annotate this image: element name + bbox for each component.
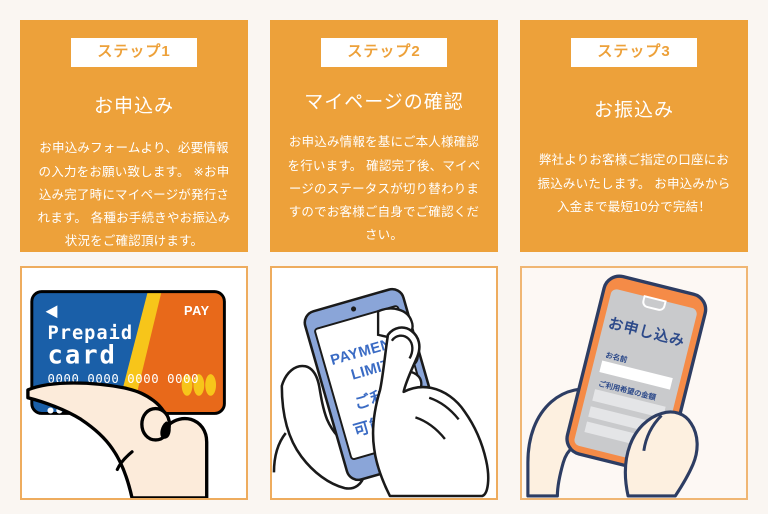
step-badge-1: ステップ1 (71, 38, 196, 67)
illustration-panel-form: お申し込み お名前 ご利用希望の金額 (520, 266, 748, 500)
step-badge-3: ステップ3 (571, 38, 696, 67)
application-form-illustration: お申し込み お名前 ご利用希望の金額 (522, 268, 746, 498)
steps-infographic: ステップ1 お申込み お申込みフォームより、必要情報の入力をお願い致します。 ※… (0, 0, 768, 514)
step-badge-2: ステップ2 (321, 38, 446, 67)
payment-limit-illustration: PAYMENT LIMIT ご利用 可能な枠 (272, 268, 496, 498)
step-title-2: マイページの確認 (304, 91, 464, 116)
card-brand-line2: card (48, 340, 117, 370)
step-body-1: お申込みフォームより、必要情報の入力をお願い致します。 ※お申込み完了時にマイペ… (30, 137, 238, 253)
card-pay-label: PAY (184, 303, 210, 318)
illustration-panel-phone: PAYMENT LIMIT ご利用 可能な枠 (270, 266, 498, 500)
steps-row: ステップ1 お申込み お申込みフォームより、必要情報の入力をお願い致します。 ※… (20, 20, 748, 252)
step-title-3: お振込み (594, 99, 674, 124)
prepaid-card-illustration: PAY Prepaid card 0000 0000 0000 0000 (22, 268, 246, 498)
illustration-panel-card: PAY Prepaid card 0000 0000 0000 0000 (20, 266, 248, 500)
step-body-2: お申込み情報を基にご本人様確認を行います。 確認完了後、マイページのステータスが… (280, 131, 488, 247)
step-title-1: お申込み (94, 95, 174, 120)
pointing-hand-right (373, 328, 488, 496)
step-body-3: 弊社よりお客様ご指定の口座にお振込みいたします。 お申込みから入金まで最短10分… (530, 149, 738, 218)
step-card-1: ステップ1 お申込み お申込みフォームより、必要情報の入力をお願い致します。 ※… (20, 20, 248, 252)
step-card-2: ステップ2 マイページの確認 お申込み情報を基にご本人様確認を行います。 確認完… (270, 20, 498, 252)
illustrations-row: PAY Prepaid card 0000 0000 0000 0000 (20, 266, 748, 500)
step-card-3: ステップ3 お振込み 弊社よりお客様ご指定の口座にお振込みいたします。 お申込み… (520, 20, 748, 252)
